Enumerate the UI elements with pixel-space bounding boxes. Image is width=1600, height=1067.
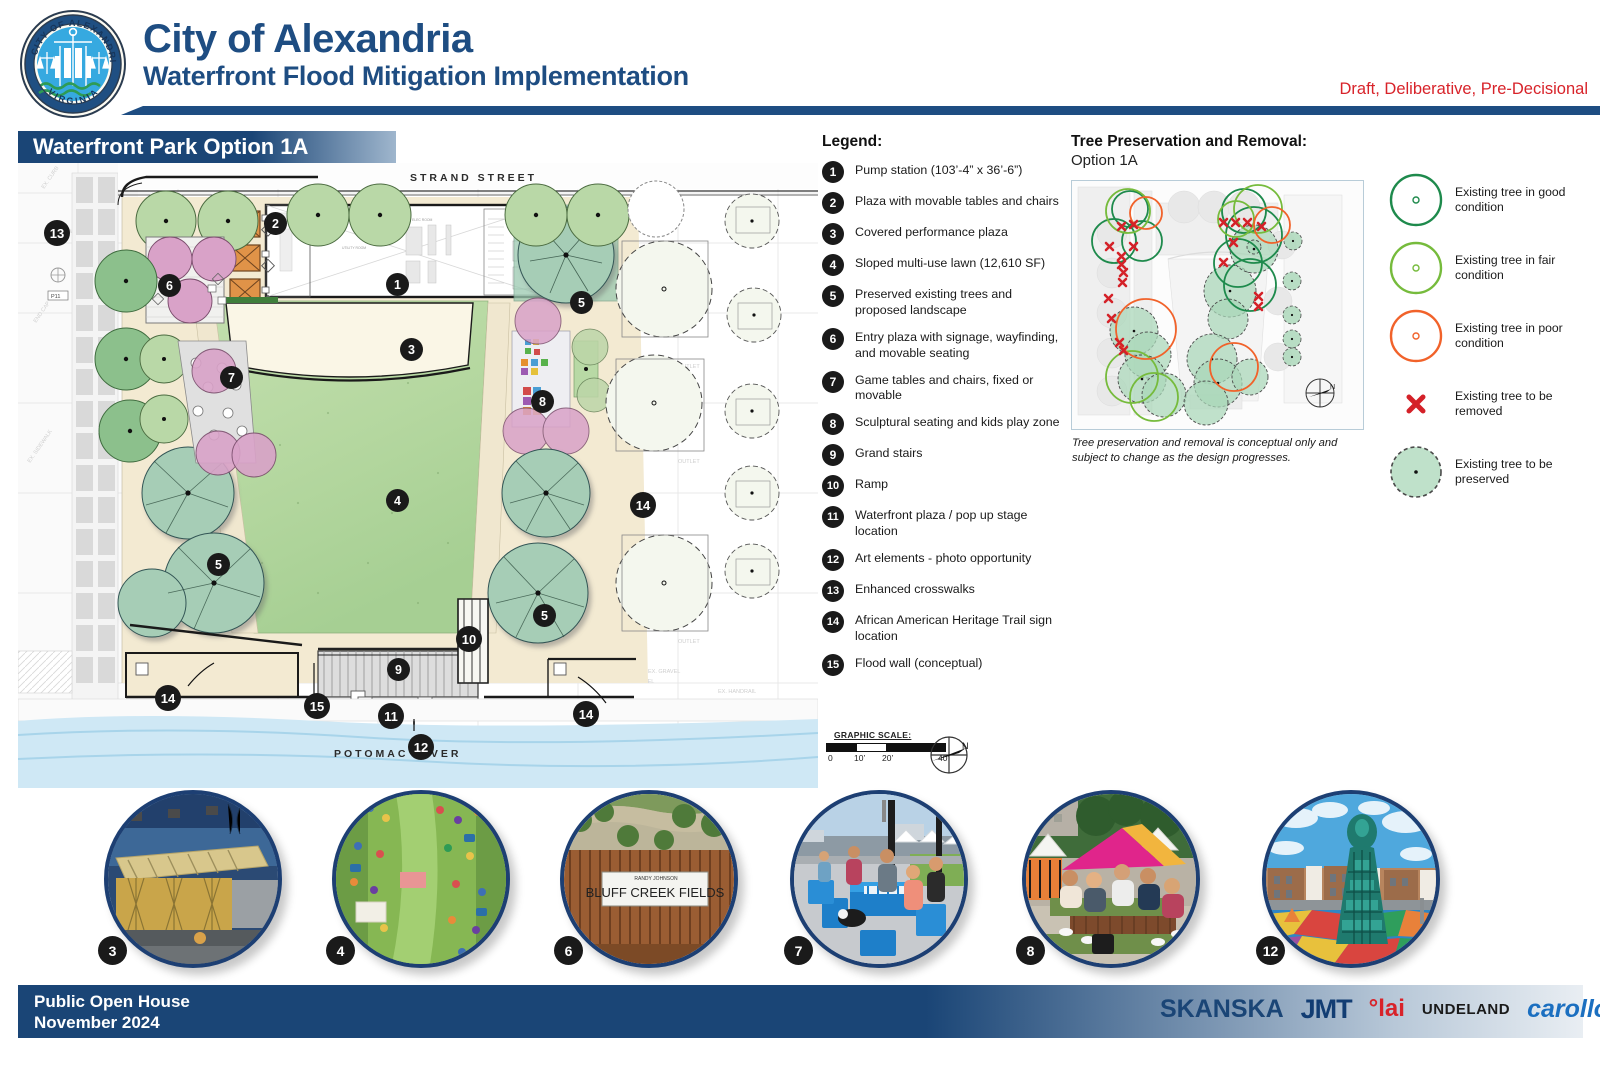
site-plan-drawing[interactable]: EX. CURB NEW POLE EX. POLE EX. POLE NEW … xyxy=(18,163,818,788)
plan-callout-5[interactable]: 5 xyxy=(207,553,230,576)
legend-item: 4Sloped multi-use lawn (12,610 SF) xyxy=(822,254,1062,276)
tree-fair-circle-icon xyxy=(1387,239,1445,297)
photo-badge: 12 xyxy=(1256,936,1285,965)
legend-item-number: 15 xyxy=(822,654,844,676)
plan-callout-6[interactable]: 6 xyxy=(158,274,181,297)
tree-removed-x-icon xyxy=(1387,375,1445,433)
svg-text:UTILITY ROOM: UTILITY ROOM xyxy=(342,246,366,250)
legend-item: 11Waterfront plaza / pop up stage locati… xyxy=(822,506,1062,540)
north-arrow-icon: N xyxy=(926,732,972,778)
legend-item-label: Sculptural seating and kids play zone xyxy=(855,413,1060,431)
tree-legend-label: Existing tree to be preserved xyxy=(1455,457,1587,488)
tree-preservation-panel: Tree Preservation and Removal: Option 1A xyxy=(1071,133,1586,169)
plan-callout-13[interactable]: 13 xyxy=(44,220,70,246)
scale-tick: 10’ xyxy=(854,753,865,763)
tree-legend-item: Existing tree in poor condition xyxy=(1387,307,1587,365)
legend-item-number: 10 xyxy=(822,475,844,497)
legend-item: 15Flood wall (conceptual) xyxy=(822,654,1062,676)
legend-item-label: Sloped multi-use lawn (12,610 SF) xyxy=(855,254,1045,272)
tree-legend-label: Existing tree in good condition xyxy=(1455,185,1587,216)
sponsor-logo-carollo: carollo xyxy=(1527,995,1600,1024)
plan-callout-11[interactable]: 11 xyxy=(378,703,404,729)
plan-callout-1[interactable]: 1 xyxy=(386,273,409,296)
photo-game-tables[interactable] xyxy=(790,790,968,968)
legend-item-number: 11 xyxy=(822,506,844,528)
tree-legend-label: Existing tree in poor condition xyxy=(1455,321,1587,352)
tree-good-circle-icon xyxy=(1387,171,1445,229)
legend-item-number: 2 xyxy=(822,192,844,214)
legend-item: 6Entry plaza with signage, wayfinding, a… xyxy=(822,328,1062,362)
plan-callout-7[interactable]: 7 xyxy=(220,366,243,389)
legend-item-number: 4 xyxy=(822,254,844,276)
legend-item: 7Game tables and chairs, fixed or movabl… xyxy=(822,371,1062,405)
tree-legend-item: Existing tree in good condition xyxy=(1387,171,1587,229)
sponsor-logo-skanska: SKANSKA xyxy=(1160,995,1284,1024)
legend-item-number: 13 xyxy=(822,580,844,602)
legend-item: 8Sculptural seating and kids play zone xyxy=(822,413,1062,435)
legend-item-label: Grand stairs xyxy=(855,444,922,462)
svg-text:N: N xyxy=(1330,384,1335,391)
legend-item-number: 7 xyxy=(822,371,844,393)
title-block: City of Alexandria Waterfront Flood Miti… xyxy=(143,18,689,92)
legend-item-number: 12 xyxy=(822,549,844,571)
legend-item: 12Art elements - photo opportunity xyxy=(822,549,1062,571)
legend-item-number: 8 xyxy=(822,413,844,435)
header-divider xyxy=(143,106,1600,115)
legend-panel: Legend: 1Pump station (103’-4” x 36’-6”)… xyxy=(822,133,1062,685)
sponsor-logo-row: SKANSKAJMT°laiUNDELANDcarollo xyxy=(1160,988,1580,1030)
tree-legend-item: Existing tree to be removed xyxy=(1387,375,1587,433)
tree-panel-note: Tree preservation and removal is concept… xyxy=(1072,436,1364,465)
svg-text:EX. GRAVEL: EX. GRAVEL xyxy=(648,669,680,675)
legend-title: Legend: xyxy=(822,133,1062,151)
photo-badge: 6 xyxy=(554,936,583,965)
legend-item: 9Grand stairs xyxy=(822,444,1062,466)
tree-legend-label: Existing tree in fair condition xyxy=(1455,253,1587,284)
sponsor-logo-undeland: UNDELAND xyxy=(1422,1001,1510,1018)
legend-item: 1Pump station (103’-4” x 36’-6”) xyxy=(822,161,1062,183)
photo-badge: 3 xyxy=(98,936,127,965)
plan-callout-2[interactable]: 2 xyxy=(264,212,287,235)
legend-item-label: Entry plaza with signage, wayfinding, an… xyxy=(855,328,1062,362)
tree-preserved-circle-icon xyxy=(1387,443,1445,501)
svg-text:ELEC ROOM: ELEC ROOM xyxy=(412,218,433,222)
legend-item: 5Preserved existing trees and proposed l… xyxy=(822,285,1062,319)
plan-callout-14[interactable]: 14 xyxy=(155,685,181,711)
legend-list: 1Pump station (103’-4” x 36’-6”)2Plaza w… xyxy=(822,161,1062,676)
legend-item-number: 14 xyxy=(822,611,844,633)
legend-item: 13Enhanced crosswalks xyxy=(822,580,1062,602)
river-label-potomac: POTOMAC RIVER xyxy=(334,748,461,760)
legend-item: 2Plaza with movable tables and chairs xyxy=(822,192,1062,214)
plan-callout-15[interactable]: 15 xyxy=(304,693,330,719)
graphic-scale: GRAPHIC SCALE: 010’20’40’ N xyxy=(826,730,986,765)
photo-public-art[interactable] xyxy=(1262,790,1440,968)
legend-item-number: 9 xyxy=(822,444,844,466)
photo-entry-signage[interactable]: RANDY JOHNSON BLUFF CREEK FIELDS xyxy=(560,790,738,968)
plan-callout-9[interactable]: 9 xyxy=(387,658,410,681)
legend-item: 3Covered performance plaza xyxy=(822,223,1062,245)
photo-sign-line2: BLUFF CREEK FIELDS xyxy=(586,885,725,900)
tree-legend-label: Existing tree to be removed xyxy=(1455,389,1587,420)
sponsor-logo-jmt: JMT xyxy=(1301,994,1352,1025)
svg-text:OUTLET: OUTLET xyxy=(678,639,700,645)
page-subtitle: Waterfront Flood Mitigation Implementati… xyxy=(143,62,689,92)
tree-panel-subtitle: Option 1A xyxy=(1071,152,1586,169)
legend-item-number: 1 xyxy=(822,161,844,183)
photo-covered-pavilion[interactable] xyxy=(104,790,282,968)
svg-text:EX. HANDRAIL: EX. HANDRAIL xyxy=(718,689,756,695)
legend-item-label: Art elements - photo opportunity xyxy=(855,549,1031,567)
tree-legend-item: Existing tree in fair condition xyxy=(1387,239,1587,297)
legend-item-label: Pump station (103’-4” x 36’-6”) xyxy=(855,161,1022,179)
page-title: City of Alexandria xyxy=(143,18,689,60)
legend-item-label: Enhanced crosswalks xyxy=(855,580,975,598)
photo-badge: 7 xyxy=(784,936,813,965)
svg-text:OUTLET: OUTLET xyxy=(678,459,700,465)
legend-item-label: African American Heritage Trail sign loc… xyxy=(855,611,1062,645)
option-tab-label: Waterfront Park Option 1A xyxy=(18,131,396,163)
legend-item-label: Flood wall (conceptual) xyxy=(855,654,982,672)
legend-item-number: 3 xyxy=(822,223,844,245)
legend-item-label: Game tables and chairs, fixed or movable xyxy=(855,371,1062,405)
photo-badge: 4 xyxy=(326,936,355,965)
legend-item-number: 6 xyxy=(822,328,844,350)
legend-item-label: Ramp xyxy=(855,475,888,493)
photo-stepped-seating[interactable] xyxy=(1022,790,1200,968)
legend-item-label: Preserved existing trees and proposed la… xyxy=(855,285,1062,319)
scale-tick: 0 xyxy=(828,753,833,763)
legend-item-label: Plaza with movable tables and chairs xyxy=(855,192,1059,210)
tree-poor-circle-icon xyxy=(1387,307,1445,365)
plan-callout-14[interactable]: 14 xyxy=(573,701,599,727)
north-label: N xyxy=(962,741,969,751)
photo-lawn-crowd[interactable] xyxy=(332,790,510,968)
plan-callout-10[interactable]: 10 xyxy=(456,626,482,652)
tree-preservation-map[interactable]: N xyxy=(1071,180,1364,430)
plan-callout-5[interactable]: 5 xyxy=(570,291,593,314)
tree-legend-list: Existing tree in good conditionExisting … xyxy=(1387,171,1587,511)
photo-badge: 8 xyxy=(1016,936,1045,965)
plan-callout-14[interactable]: 14 xyxy=(630,492,656,518)
plan-callout-12[interactable]: 12 xyxy=(408,734,434,760)
scale-tick: 20’ xyxy=(882,753,893,763)
photo-sign-line1: RANDY JOHNSON xyxy=(634,876,678,882)
street-label-strand: STRAND STREET xyxy=(410,172,537,184)
legend-item-label: Covered performance plaza xyxy=(855,223,1008,241)
plan-callout-3[interactable]: 3 xyxy=(400,338,423,361)
draft-notice: Draft, Deliberative, Pre-Decisional xyxy=(1339,80,1588,99)
plan-callout-5[interactable]: 5 xyxy=(533,604,556,627)
page-header: CITY OF ALEXANDRIA VIRGINIA City of Alex… xyxy=(0,0,1600,120)
legend-item: 10Ramp xyxy=(822,475,1062,497)
footer-event-info: Public Open House November 2024 xyxy=(34,992,190,1033)
svg-text:P11: P11 xyxy=(51,294,60,300)
legend-item-number: 5 xyxy=(822,285,844,307)
legend-item-label: Waterfront plaza / pop up stage location xyxy=(855,506,1062,540)
tree-legend-item: Existing tree to be preserved xyxy=(1387,443,1587,501)
tree-panel-title: Tree Preservation and Removal: xyxy=(1071,133,1586,151)
sponsor-logo-lai: °lai xyxy=(1369,995,1405,1023)
plan-callout-8[interactable]: 8 xyxy=(531,390,554,413)
plan-callout-4[interactable]: 4 xyxy=(386,489,409,512)
city-seal-logo: CITY OF ALEXANDRIA VIRGINIA xyxy=(14,8,132,120)
legend-item: 14African American Heritage Trail sign l… xyxy=(822,611,1062,645)
